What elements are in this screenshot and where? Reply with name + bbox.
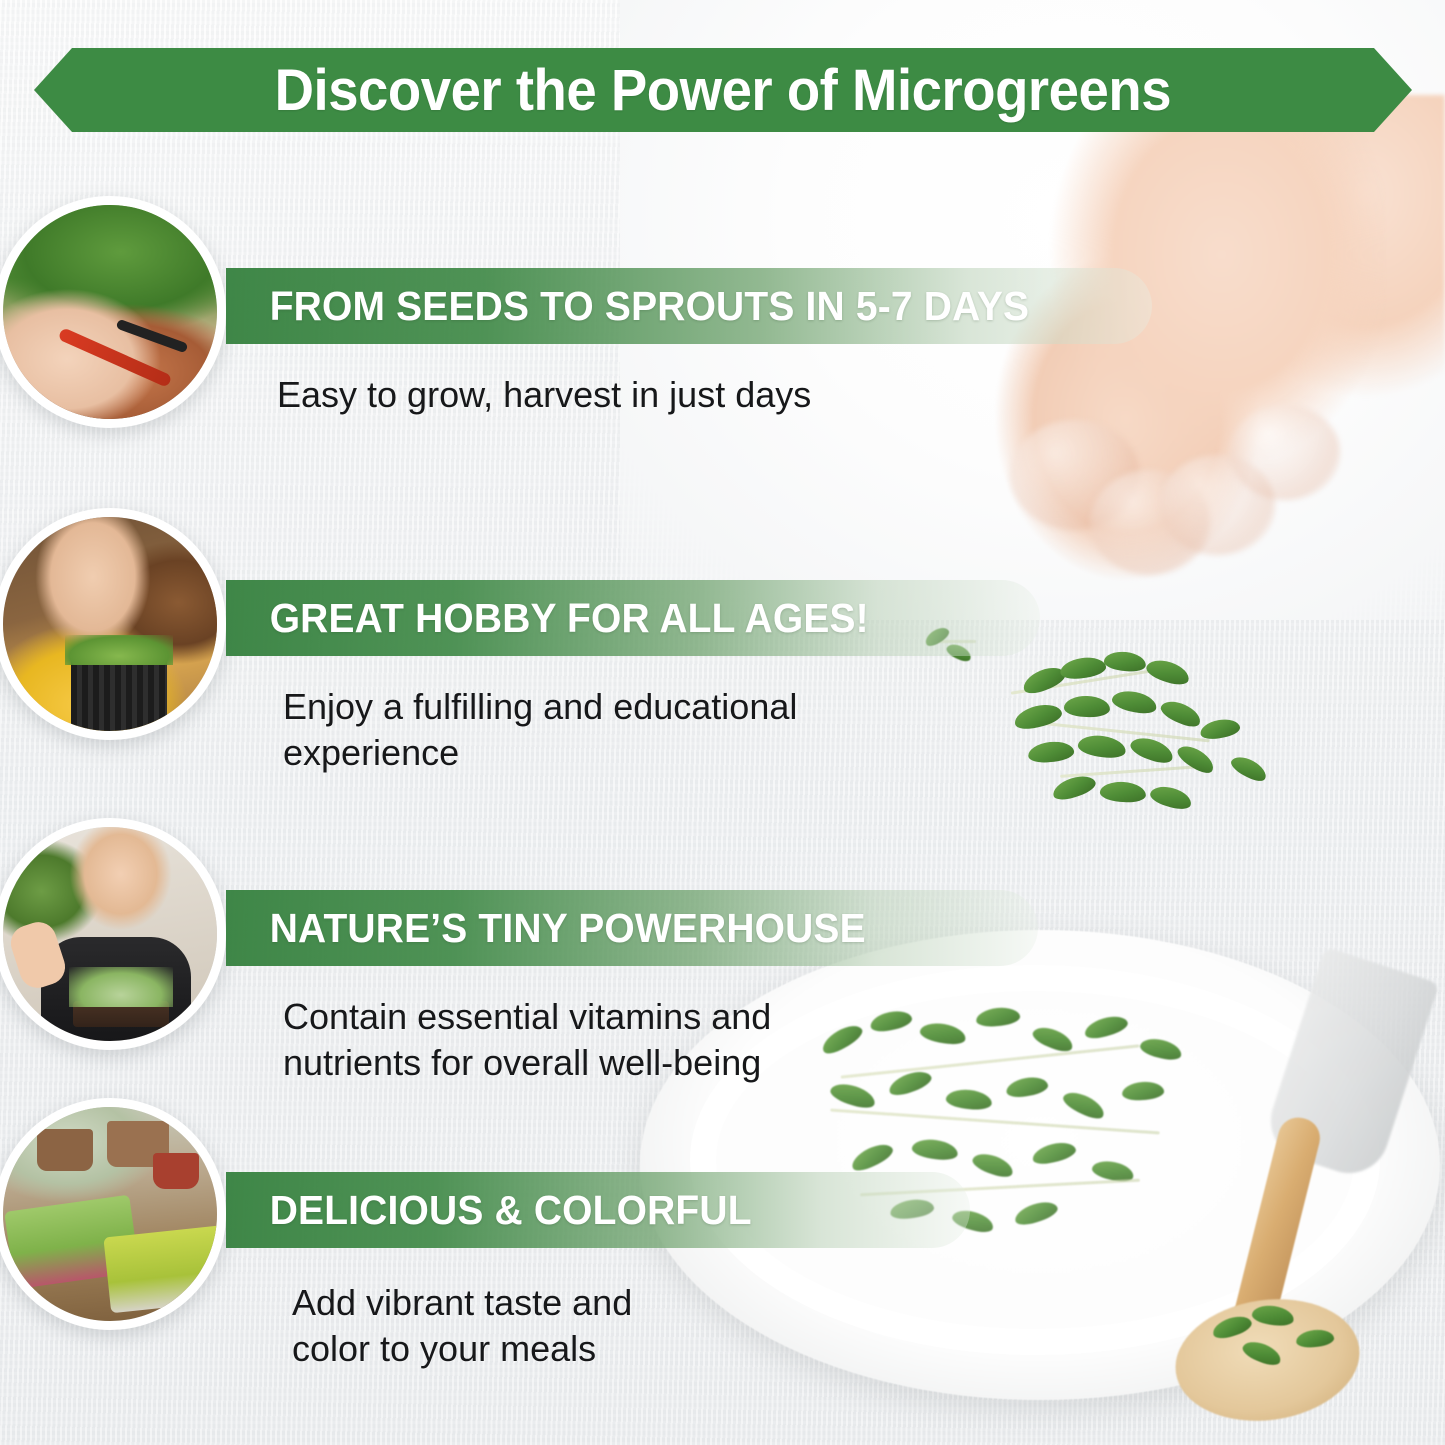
feature-bar-seeds-to-sprouts: FROM SEEDS TO SPROUTS IN 5-7 DAYS: [226, 268, 1152, 344]
feature-bar-great-hobby: GREAT HOBBY FOR ALL AGES!: [226, 580, 1040, 656]
background-microgreens-handful: [1000, 610, 1290, 845]
feature-description-delicious-colorful: Add vibrant taste and color to your meal…: [292, 1280, 632, 1372]
infographic-canvas: Discover the Power of Microgreens FROM S…: [0, 0, 1445, 1445]
feature-thumbnail-delicious-colorful: [0, 1098, 226, 1330]
feature-title-tiny-powerhouse: NATURE’S TINY POWERHOUSE: [226, 905, 866, 952]
feature-bar-tiny-powerhouse: NATURE’S TINY POWERHOUSE: [226, 890, 1038, 966]
feature-title-great-hobby: GREAT HOBBY FOR ALL AGES!: [226, 595, 869, 642]
feature-thumbnail-tiny-powerhouse: [0, 818, 226, 1050]
feature-bar-delicious-colorful: DELICIOUS & COLORFUL: [226, 1172, 970, 1248]
feature-description-great-hobby: Enjoy a fulfilling and educational exper…: [283, 684, 797, 776]
header-ribbon: Discover the Power of Microgreens: [34, 48, 1412, 132]
feature-description-tiny-powerhouse: Contain essential vitamins and nutrients…: [283, 994, 771, 1086]
feature-thumbnail-great-hobby: [0, 508, 226, 740]
page-title: Discover the Power of Microgreens: [275, 57, 1171, 124]
feature-description-seeds-to-sprouts: Easy to grow, harvest in just days: [277, 372, 811, 418]
feature-thumbnail-seeds-to-sprouts: [0, 196, 226, 428]
feature-title-seeds-to-sprouts: FROM SEEDS TO SPROUTS IN 5-7 DAYS: [226, 283, 1029, 330]
feature-title-delicious-colorful: DELICIOUS & COLORFUL: [226, 1187, 752, 1234]
